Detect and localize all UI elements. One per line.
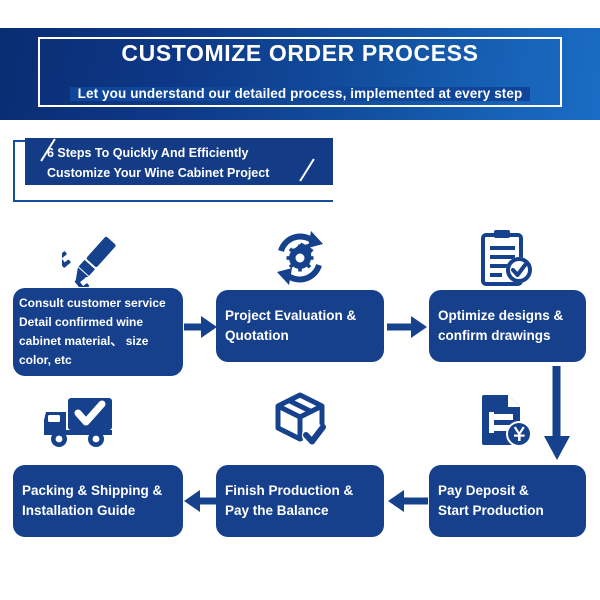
step-5-label: Finish Production & Pay the Balance [216,481,384,521]
step-box-5[interactable]: Finish Production & Pay the Balance [216,465,384,537]
arrow-1-to-2-icon [184,315,217,339]
step-4-line-1: Pay Deposit & [438,481,577,501]
step-5-line-1: Finish Production & [225,481,375,501]
step-3-label: Optimize designs & confirm drawings [429,306,586,346]
arrow-2-to-3-icon [387,315,427,339]
step-2-line-2: Quotation [225,326,375,346]
header-subtitle: Let you understand our detailed process,… [70,87,531,101]
step-1-line-2: Detail confirmed wine [19,313,177,332]
banner: 6 Steps To Quickly And Efficiently Custo… [13,140,333,202]
gear-refresh-icon [270,229,330,287]
step-5-line-2: Pay the Balance [225,501,375,521]
step-6-line-1: Packing & Shipping & [22,481,174,501]
header-subtitle-wrap: Let you understand our detailed process,… [0,86,600,102]
step-3-line-2: confirm drawings [438,326,577,346]
step-2-label: Project Evaluation & Quotation [216,306,384,346]
step-4-line-2: Start Production [438,501,577,521]
banner-line-1: 6 Steps To Quickly And Efficiently [47,143,327,163]
step-1-line-4: color, etc [19,351,177,370]
page-title: CUSTOMIZE ORDER PROCESS [0,42,600,65]
header-band: CUSTOMIZE ORDER PROCESS Let you understa… [0,28,600,120]
step-1-line-3: cabinet material、 size [19,332,177,351]
step-2-line-1: Project Evaluation & [225,306,375,326]
arrow-3-to-4-icon [543,366,571,462]
step-box-2[interactable]: Project Evaluation & Quotation [216,290,384,362]
arrow-5-to-6-icon [184,489,217,513]
step-6-label: Packing & Shipping & Installation Guide [13,481,183,521]
package-check-icon [272,391,330,449]
delivery-truck-check-icon [42,396,116,448]
step-box-1[interactable]: Consult customer service Detail confirme… [13,288,183,376]
step-3-line-1: Optimize designs & [438,306,577,326]
pen-writing-icon [62,229,124,287]
step-1-line-1: Consult customer service [19,294,177,313]
step-4-label: Pay Deposit & Start Production [429,481,586,521]
step-1-label: Consult customer service Detail confirme… [13,294,183,370]
clipboard-check-icon [478,229,536,287]
step-box-6[interactable]: Packing & Shipping & Installation Guide [13,465,183,537]
step-box-4[interactable]: Pay Deposit & Start Production [429,465,586,537]
banner-line-2: Customize Your Wine Cabinet Project [47,163,327,183]
step-6-line-2: Installation Guide [22,501,174,521]
banner-text: 6 Steps To Quickly And Efficiently Custo… [47,143,327,183]
process-infographic: CUSTOMIZE ORDER PROCESS Let you understa… [0,0,600,600]
arrow-4-to-5-icon [386,489,428,513]
invoice-payment-icon [478,391,536,449]
step-box-3[interactable]: Optimize designs & confirm drawings [429,290,586,362]
